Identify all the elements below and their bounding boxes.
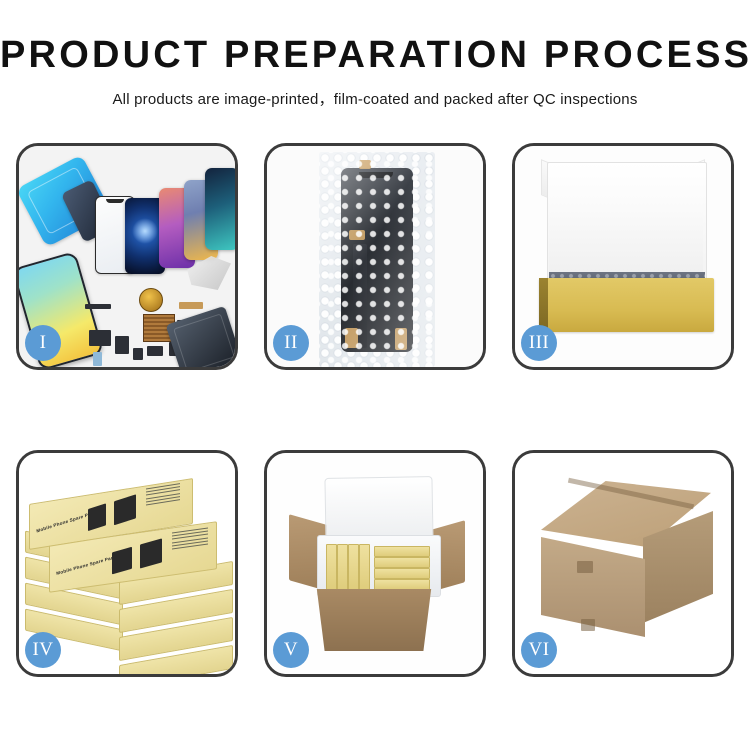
part-strip-4 xyxy=(133,348,143,360)
inner-yellow-box-7 xyxy=(374,568,430,579)
inner-yellow-box-1 xyxy=(326,544,337,590)
yellow-box-body xyxy=(539,278,714,332)
step-badge-1: I xyxy=(25,325,61,361)
page-title: PRODUCT PREPARATION PROCESS xyxy=(0,36,750,76)
bubble-wrap-package xyxy=(319,152,435,367)
step-badge-6: VI xyxy=(521,632,557,668)
teal-phone-icon xyxy=(205,168,238,250)
yellow-box-left-edge xyxy=(539,278,548,332)
step-badge-4: IV xyxy=(25,632,61,668)
product-preparation-process-page: PRODUCT PREPARATION PROCESS All products… xyxy=(0,0,750,750)
tape-piece-3 xyxy=(345,328,358,348)
carton-tab-lower xyxy=(581,619,595,631)
step-panel-3[interactable]: III xyxy=(512,143,734,370)
inner-yellow-box-2 xyxy=(337,544,348,590)
inner-yellow-box-5 xyxy=(374,546,430,557)
box-window-top-2 xyxy=(114,494,136,525)
lcd-screen-assembly-icon xyxy=(341,168,413,352)
tape-piece-2 xyxy=(349,230,365,240)
part-strip-5 xyxy=(147,346,163,356)
tape-piece-4 xyxy=(395,328,407,350)
step-badge-3: III xyxy=(521,325,557,361)
tape-piece-1 xyxy=(359,160,371,169)
carton-front-panel xyxy=(309,589,439,651)
process-steps-grid: I II xyxy=(16,143,734,677)
step-badge-5: V xyxy=(273,632,309,668)
inner-yellow-box-8 xyxy=(374,579,430,590)
box-window-front-1 xyxy=(112,547,132,575)
part-strip-1 xyxy=(85,304,111,309)
step-panel-1[interactable]: I xyxy=(16,143,238,370)
box-text-lines-top xyxy=(146,483,180,508)
step-panel-4[interactable]: Mobile Phone Spare Parts Mobile Phone Sp… xyxy=(16,450,238,677)
foam-box-body xyxy=(317,535,441,597)
page-header: PRODUCT PREPARATION PROCESS All products… xyxy=(0,0,750,109)
carton-tab-upper xyxy=(577,561,593,573)
box-window-front-2 xyxy=(140,538,162,568)
box-label-front: Mobile Phone Spare Parts xyxy=(56,554,118,576)
page-subtitle: All products are image-printed，film-coat… xyxy=(0,88,750,109)
speaker-coil-icon xyxy=(139,288,163,312)
step-panel-6[interactable]: VI xyxy=(512,450,734,677)
box-window-top-1 xyxy=(88,503,106,531)
step-badge-2: II xyxy=(273,325,309,361)
inner-yellow-box-4 xyxy=(359,544,370,590)
phone-back-housing-icon xyxy=(166,306,238,370)
white-foam-sheet xyxy=(549,202,703,274)
flex-cable-1 xyxy=(179,302,203,309)
part-strip-3 xyxy=(115,336,129,354)
spare-parts-cluster xyxy=(85,286,237,370)
box-text-lines-front xyxy=(172,527,208,551)
inner-yellow-box-6 xyxy=(374,557,430,568)
part-strip-7 xyxy=(93,352,102,366)
step-panel-2[interactable]: II xyxy=(264,143,486,370)
inner-yellow-box-3 xyxy=(348,544,359,590)
part-strip-2 xyxy=(89,330,111,346)
foam-box-lid xyxy=(324,476,433,544)
step-panel-5[interactable]: V xyxy=(264,450,486,677)
